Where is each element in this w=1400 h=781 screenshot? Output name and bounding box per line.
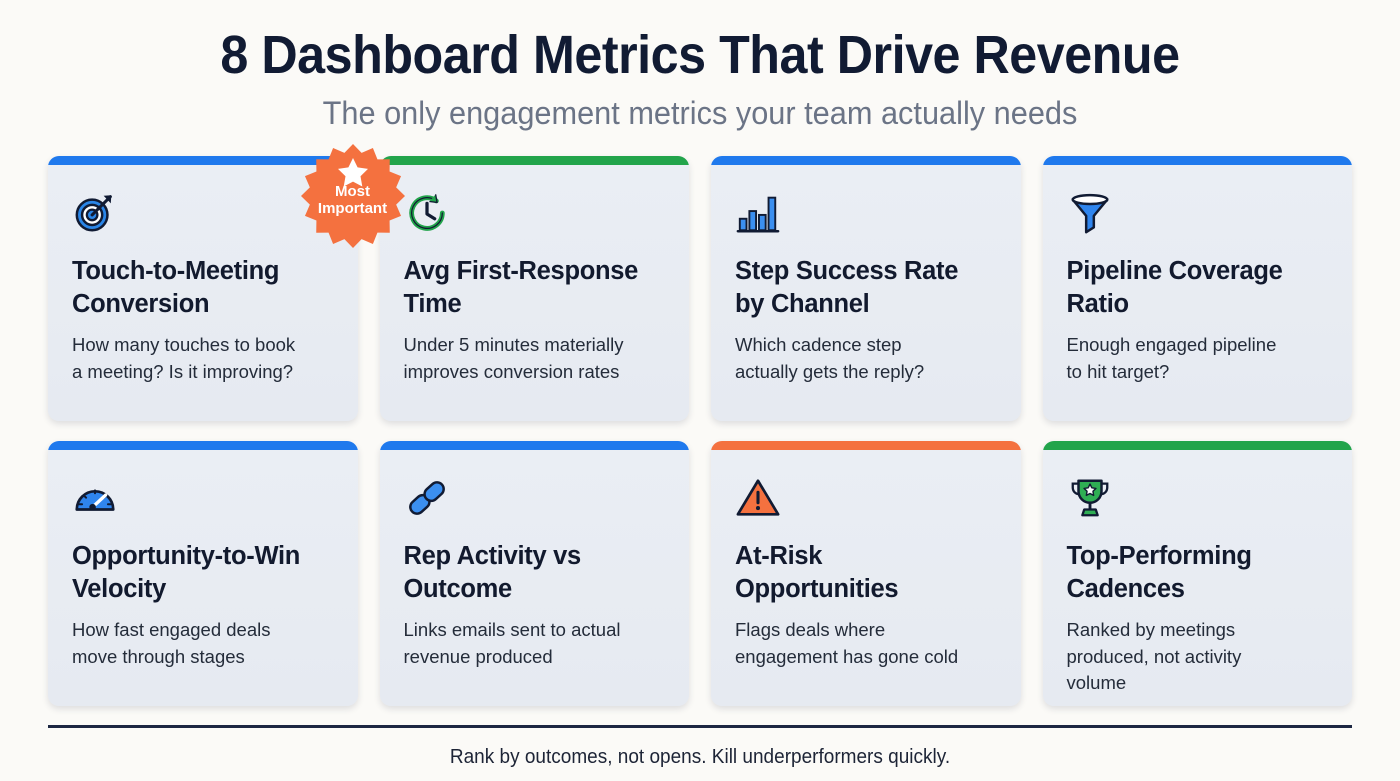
page-title: 8 Dashboard Metrics That Drive Revenue — [49, 26, 1351, 84]
metric-card-surface: Rep Activity vs OutcomeLinks emails sent… — [380, 441, 690, 706]
metric-card-surface: Opportunity-to-Win VelocityHow fast enga… — [48, 441, 358, 706]
metric-card-title: Rep Activity vs Outcome — [404, 540, 666, 605]
metric-card[interactable]: Opportunity-to-Win VelocityHow fast enga… — [48, 441, 358, 706]
target-icon — [72, 187, 334, 239]
metric-card-accent-bar — [711, 156, 1021, 165]
metric-card-body: Avg First-Response TimeUnder 5 minutes m… — [380, 165, 690, 421]
metric-card-surface: Avg First-Response TimeUnder 5 minutes m… — [380, 156, 690, 421]
footer: Rank by outcomes, not opens. Kill underp… — [48, 725, 1352, 769]
warning-triangle-icon — [735, 472, 997, 524]
metric-card-title: Touch-to-Meeting Conversion — [72, 255, 334, 320]
header: 8 Dashboard Metrics That Drive Revenue T… — [0, 0, 1400, 133]
metric-card-accent-bar — [1043, 156, 1353, 165]
metric-card-description: Enough engaged pipeline to hit target? — [1067, 332, 1329, 385]
page-subtitle: The only engagement metrics your team ac… — [28, 94, 1372, 132]
metric-card-surface: Touch-to-Meeting ConversionHow many touc… — [48, 156, 358, 421]
metric-card[interactable]: Avg First-Response TimeUnder 5 minutes m… — [380, 156, 690, 421]
metric-card-title: At-Risk Opportunities — [735, 540, 997, 605]
metric-card-grid: Touch-to-Meeting ConversionHow many touc… — [48, 156, 1352, 706]
metric-card-surface: Step Success Rate by ChannelWhich cadenc… — [711, 156, 1021, 421]
trophy-icon — [1067, 472, 1329, 524]
metric-card-surface: At-Risk OpportunitiesFlags deals where e… — [711, 441, 1021, 706]
metric-card-description: How fast engaged deals move through stag… — [72, 617, 334, 670]
metric-card-body: Step Success Rate by ChannelWhich cadenc… — [711, 165, 1021, 421]
metric-card-body: Opportunity-to-Win VelocityHow fast enga… — [48, 450, 358, 706]
metric-card-title: Pipeline Coverage Ratio — [1067, 255, 1329, 320]
metric-card[interactable]: Step Success Rate by ChannelWhich cadenc… — [711, 156, 1021, 421]
metric-card-body: Touch-to-Meeting ConversionHow many touc… — [48, 165, 358, 421]
metric-card-accent-bar — [711, 441, 1021, 450]
metric-card[interactable]: Touch-to-Meeting ConversionHow many touc… — [48, 156, 358, 421]
metric-card-body: Top-Performing CadencesRanked by meeting… — [1043, 450, 1353, 706]
metric-card[interactable]: Top-Performing CadencesRanked by meeting… — [1043, 441, 1353, 706]
metric-card-title: Step Success Rate by Channel — [735, 255, 997, 320]
metric-card[interactable]: At-Risk OpportunitiesFlags deals where e… — [711, 441, 1021, 706]
metric-card-description: Which cadence step actually gets the rep… — [735, 332, 997, 385]
footer-text: Rank by outcomes, not opens. Kill underp… — [81, 746, 1320, 769]
infographic-page: 8 Dashboard Metrics That Drive Revenue T… — [0, 0, 1400, 781]
funnel-icon — [1067, 187, 1329, 239]
metric-card-body: At-Risk OpportunitiesFlags deals where e… — [711, 450, 1021, 706]
metric-card-body: Rep Activity vs OutcomeLinks emails sent… — [380, 450, 690, 706]
metric-card-description: Links emails sent to actual revenue prod… — [404, 617, 666, 670]
speedometer-icon — [72, 472, 334, 524]
metric-card-accent-bar — [1043, 441, 1353, 450]
metric-card-title: Top-Performing Cadences — [1067, 540, 1329, 605]
footer-divider — [48, 725, 1352, 728]
metric-card-title: Avg First-Response Time — [404, 255, 666, 320]
clock-refresh-icon — [404, 187, 666, 239]
metric-card-description: Under 5 minutes materially improves conv… — [404, 332, 666, 385]
metric-card-description: How many touches to book a meeting? Is i… — [72, 332, 334, 385]
metric-card-accent-bar — [48, 156, 358, 165]
link-icon — [404, 472, 666, 524]
metric-card-surface: Top-Performing CadencesRanked by meeting… — [1043, 441, 1353, 706]
metric-card-accent-bar — [380, 156, 690, 165]
metric-card-title: Opportunity-to-Win Velocity — [72, 540, 334, 605]
bar-chart-icon — [735, 187, 997, 239]
metric-card-accent-bar — [48, 441, 358, 450]
metric-card-body: Pipeline Coverage RatioEnough engaged pi… — [1043, 165, 1353, 421]
metric-card-description: Ranked by meetings produced, not activit… — [1067, 617, 1329, 696]
metric-card-accent-bar — [380, 441, 690, 450]
metric-card[interactable]: Pipeline Coverage RatioEnough engaged pi… — [1043, 156, 1353, 421]
metric-card[interactable]: Rep Activity vs OutcomeLinks emails sent… — [380, 441, 690, 706]
metric-card-description: Flags deals where engagement has gone co… — [735, 617, 997, 670]
metric-card-surface: Pipeline Coverage RatioEnough engaged pi… — [1043, 156, 1353, 421]
